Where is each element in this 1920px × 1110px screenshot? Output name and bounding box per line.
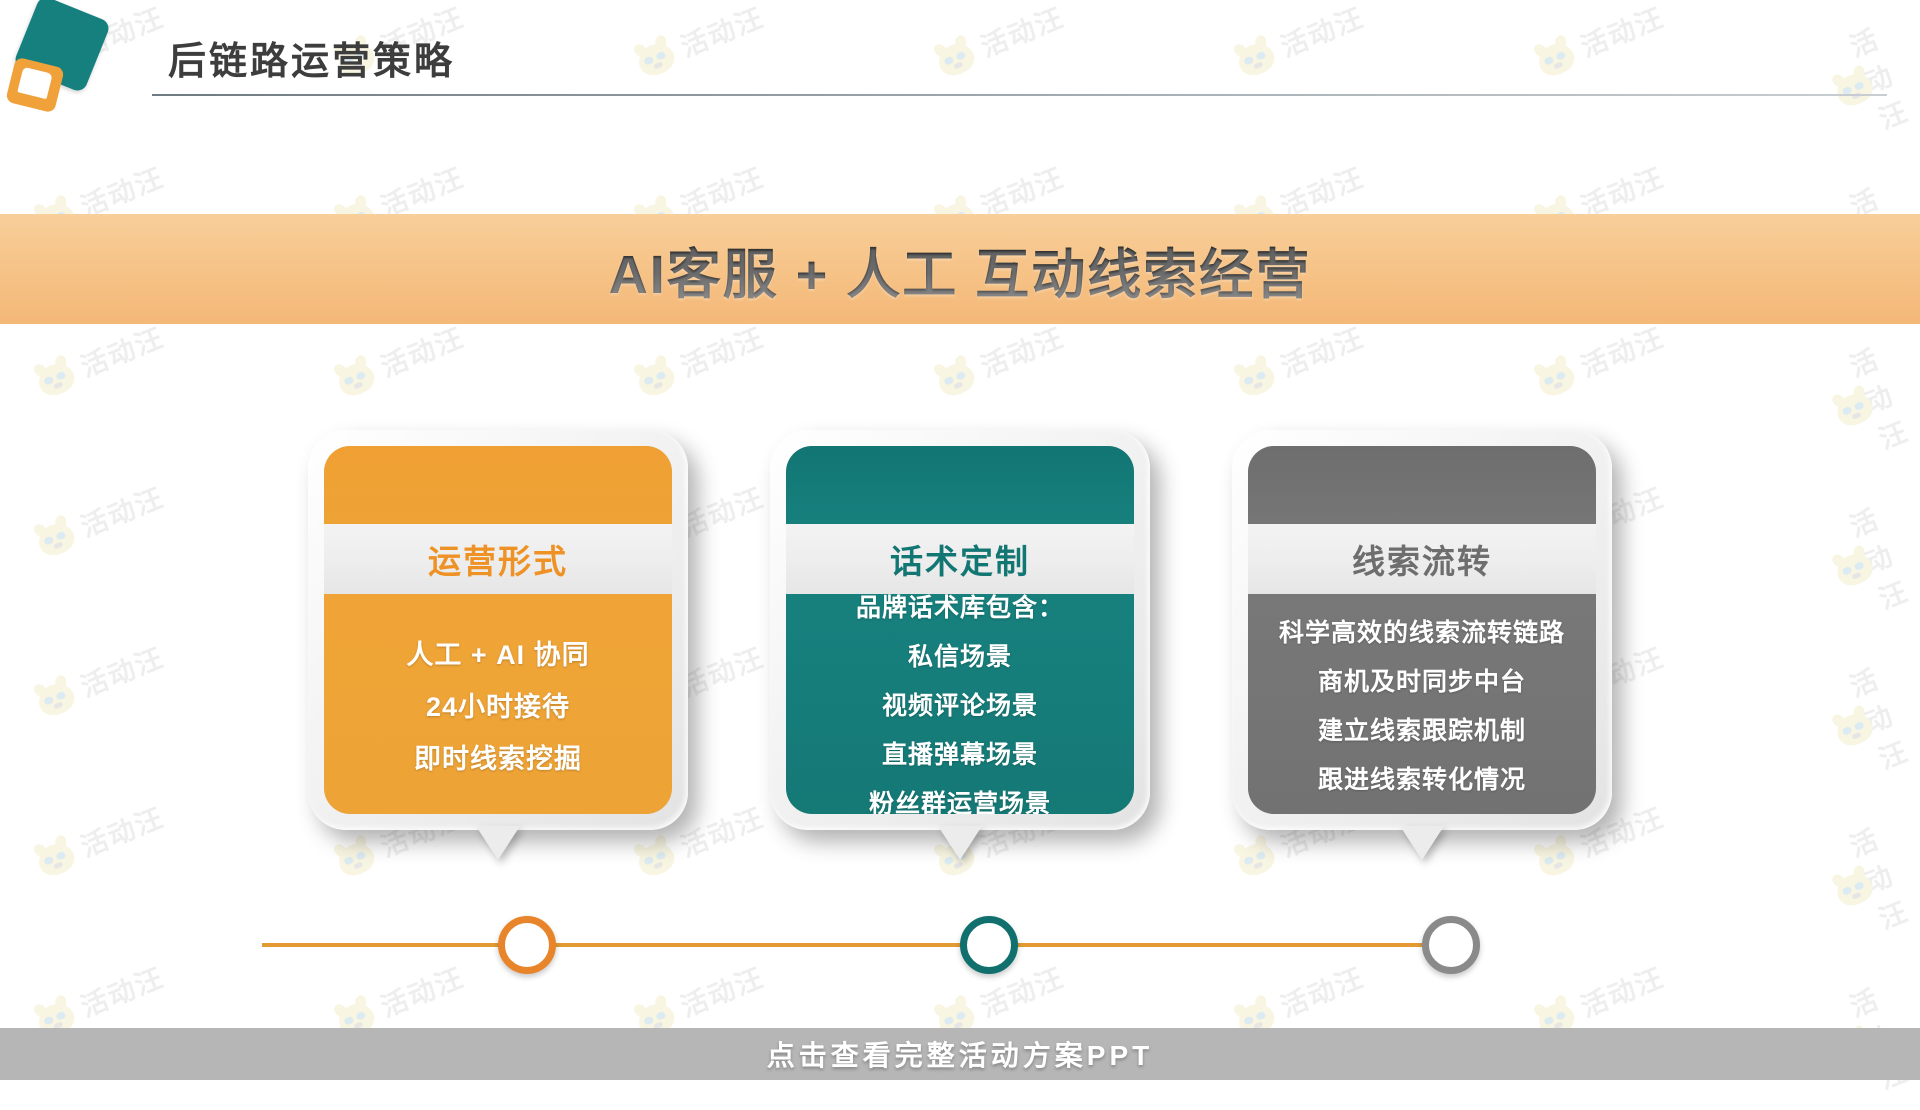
diamond-logo-icon [6,4,126,114]
card-body-line: 私信场景 [908,637,1012,673]
card-title: 运营形式 [428,535,568,583]
card-body-line: 视频评论场景 [882,686,1038,722]
card-title-band: 话术定制 [786,524,1134,594]
card-body-line: 直播弹幕场景 [882,735,1038,771]
card-group: 运营形式人工 + AI 协同24小时接待即时线索挖掘话术定制品牌话术库包含：私信… [0,0,1920,1080]
card-body-line: 商机及时同步中台 [1318,662,1526,698]
card-body-line: 人工 + AI 协同 [406,633,589,672]
card-body: 品牌话术库包含：私信场景视频评论场景直播弹幕场景粉丝群运营场景 [786,594,1134,814]
card-operation-form[interactable]: 运营形式人工 + AI 协同24小时接待即时线索挖掘 [308,430,688,830]
footer-bar[interactable]: 点击查看完整活动方案PPT [0,1028,1920,1080]
card-body: 科学高效的线索流转链路商机及时同步中台建立线索跟踪机制跟进线索转化情况 [1248,594,1596,814]
card-title-band: 线索流转 [1248,524,1596,594]
card-header-block [324,446,672,524]
card-inner: 线索流转科学高效的线索流转链路商机及时同步中台建立线索跟踪机制跟进线索转化情况 [1248,446,1596,814]
header-divider [152,94,1887,96]
card-shell: 话术定制品牌话术库包含：私信场景视频评论场景直播弹幕场景粉丝群运营场景 [770,430,1150,830]
card-lead-flow[interactable]: 线索流转科学高效的线索流转链路商机及时同步中台建立线索跟踪机制跟进线索转化情况 [1232,430,1612,830]
card-title: 话术定制 [890,535,1030,583]
card-body-line: 品牌话术库包含： [856,588,1064,624]
card-pointer-tail [476,826,520,860]
card-body-line: 24小时接待 [426,685,570,724]
card-inner: 话术定制品牌话术库包含：私信场景视频评论场景直播弹幕场景粉丝群运营场景 [786,446,1134,814]
card-body-line: 粉丝群运营场景 [869,784,1051,814]
card-body-line: 即时线索挖掘 [414,737,582,776]
card-shell: 线索流转科学高效的线索流转链路商机及时同步中台建立线索跟踪机制跟进线索转化情况 [1232,430,1612,830]
card-body-line: 跟进线索转化情况 [1318,760,1526,796]
footer-cta-label: 点击查看完整活动方案PPT [767,1034,1153,1074]
card-script-customization[interactable]: 话术定制品牌话术库包含：私信场景视频评论场景直播弹幕场景粉丝群运营场景 [770,430,1150,830]
card-title: 线索流转 [1352,535,1492,583]
card-pointer-tail [1400,826,1444,860]
card-title-band: 运营形式 [324,524,672,594]
card-header-block [786,446,1134,524]
card-header-block [1248,446,1596,524]
card-pointer-tail [938,826,982,860]
page-title: 后链路运营策略 [168,30,455,85]
page-header: 后链路运营策略 [0,0,1920,120]
card-body: 人工 + AI 协同24小时接待即时线索挖掘 [324,594,672,814]
card-body-line: 科学高效的线索流转链路 [1279,613,1565,649]
card-body-line: 建立线索跟踪机制 [1318,711,1526,747]
card-shell: 运营形式人工 + AI 协同24小时接待即时线索挖掘 [308,430,688,830]
card-inner: 运营形式人工 + AI 协同24小时接待即时线索挖掘 [324,446,672,814]
